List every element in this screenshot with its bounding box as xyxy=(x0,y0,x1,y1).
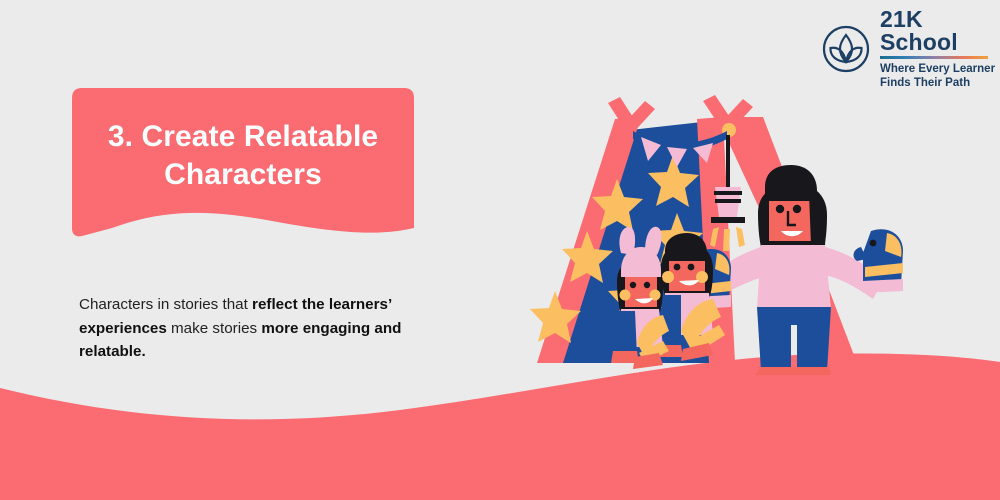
title-banner: 3. Create Relatable Characters xyxy=(72,88,414,250)
slide-canvas: 21K School Where Every Learner Finds The… xyxy=(0,0,1000,500)
body-seg-1: Characters in stories that xyxy=(79,296,252,313)
brand-logo[interactable]: 21K School Where Every Learner Finds The… xyxy=(822,8,1000,90)
logo-wordmark: 21K School Where Every Learner Finds The… xyxy=(880,8,1000,90)
banner-heading: 3. Create Relatable Characters xyxy=(72,118,414,195)
logo-tagline-line2: Finds Their Path xyxy=(880,76,1000,90)
lotus-circle-icon xyxy=(822,25,870,73)
logo-tagline-line1: Where Every Learner xyxy=(880,62,1000,76)
banner-heading-line1: 3. Create Relatable xyxy=(72,118,414,156)
family-storytelling-tent-illustration xyxy=(505,95,905,375)
logo-gradient-rule xyxy=(880,56,988,59)
logo-title: 21K School xyxy=(880,8,1000,54)
banner-heading-line2: Characters xyxy=(72,156,414,194)
body-seg-3: make stories xyxy=(167,320,262,337)
body-paragraph: Characters in stories that reflect the l… xyxy=(79,293,451,364)
